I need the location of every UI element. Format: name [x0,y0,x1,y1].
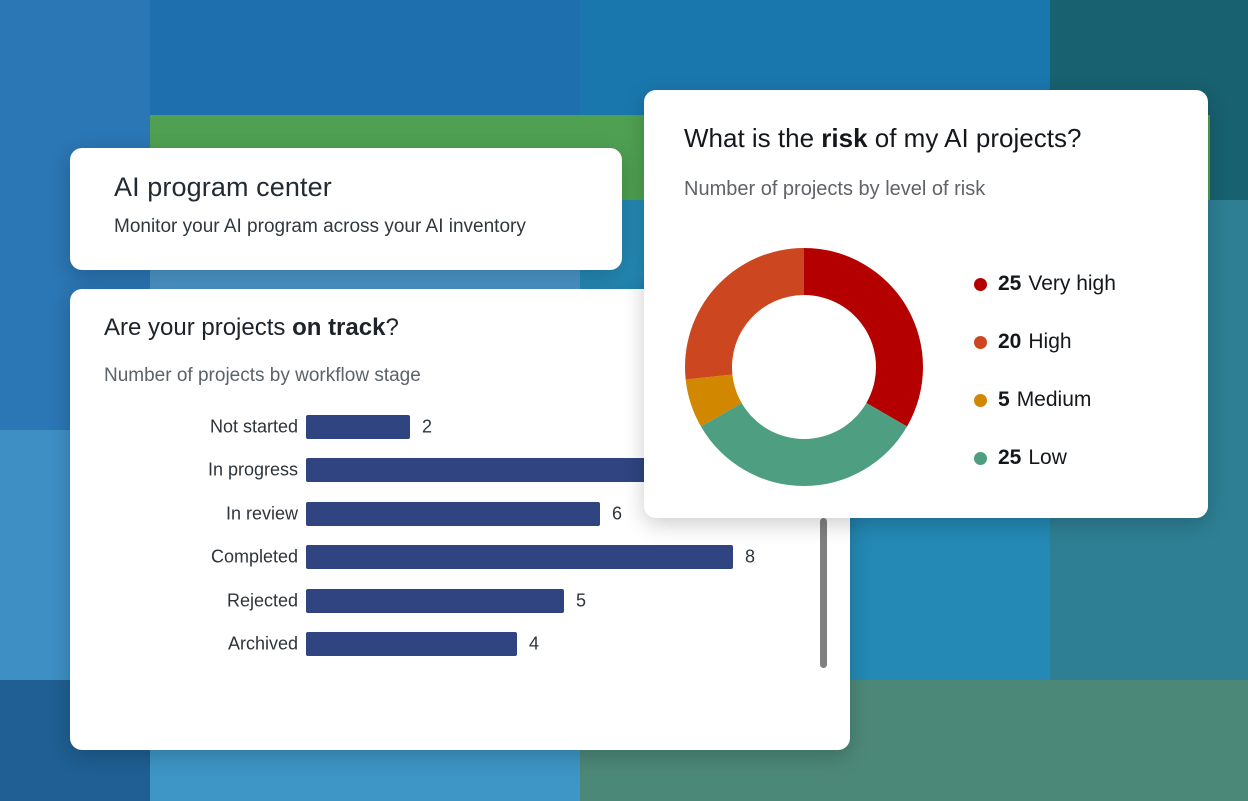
bar-category-label: Rejected [227,590,298,611]
bar-category-label: In review [226,503,298,524]
bar-category-label: Not started [210,416,298,437]
bar-fill[interactable] [306,415,410,439]
legend-value: 25 [998,446,1021,470]
bar-row: Rejected5 [70,579,850,623]
bar-track [306,415,410,439]
legend-item[interactable]: 25Very high [974,255,1116,313]
bar-category-label: Completed [211,547,298,568]
legend-color-dot-icon [974,394,987,407]
risk-chart-card: What is the risk of my AI projects? Numb… [644,90,1208,518]
workflow-title-prefix: Are your projects [104,314,292,341]
bar-category-label: In progress [208,460,298,481]
screenshot-stage: AI program center Monitor your AI progra… [0,0,1248,801]
vertical-scrollbar[interactable] [820,518,827,668]
risk-card-title: What is the risk of my AI projects? [684,123,1081,154]
risk-donut-chart [685,248,923,486]
donut-slice-high[interactable] [685,248,804,379]
bar-track [306,589,564,613]
risk-title-prefix: What is the [684,123,821,153]
legend-item[interactable]: 20High [974,313,1116,371]
workflow-title-emphasis: on track [292,314,385,341]
bar-fill[interactable] [306,545,733,569]
risk-card-subtitle: Number of projects by level of risk [684,178,985,201]
legend-value: 20 [998,330,1021,354]
bar-category-label: Archived [228,634,298,655]
bar-track [306,545,733,569]
legend-color-dot-icon [974,336,987,349]
bar-fill[interactable] [306,589,564,613]
legend-label: High [1028,330,1071,354]
bar-track [306,502,600,526]
bar-fill[interactable] [306,502,600,526]
page-title: AI program center [114,172,332,203]
risk-title-emphasis: risk [821,123,867,153]
legend-item[interactable]: 5Medium [974,371,1116,429]
legend-label: Very high [1028,272,1116,296]
tile-bottom-right-green [1050,680,1248,801]
donut-svg [685,248,923,486]
bar-row: Completed8 [70,536,850,580]
bar-value-label: 5 [576,590,586,611]
legend-color-dot-icon [974,452,987,465]
ai-program-center-card: AI program center Monitor your AI progra… [70,148,622,270]
page-subtitle: Monitor your AI program across your AI i… [114,216,526,238]
legend-label: Medium [1017,388,1092,412]
bar-row: Archived4 [70,623,850,667]
legend-color-dot-icon [974,278,987,291]
tile-top-mid-blue [150,0,580,115]
legend-value: 25 [998,272,1021,296]
workflow-card-title: Are your projects on track? [104,314,399,342]
bar-fill[interactable] [306,632,517,656]
legend-label: Low [1028,446,1067,470]
bar-value-label: 4 [529,634,539,655]
workflow-title-suffix: ? [385,314,398,341]
risk-legend: 25Very high20High5Medium25Low [974,255,1116,487]
bar-value-label: 6 [612,503,622,524]
donut-slice-low[interactable] [701,403,907,486]
risk-title-suffix: of my AI projects? [868,123,1082,153]
bar-value-label: 8 [745,547,755,568]
bar-value-label: 2 [422,416,432,437]
legend-value: 5 [998,388,1010,412]
legend-item[interactable]: 25Low [974,429,1116,487]
bar-track [306,632,517,656]
donut-slice-very-high[interactable] [804,248,923,427]
workflow-card-subtitle: Number of projects by workflow stage [104,365,421,387]
